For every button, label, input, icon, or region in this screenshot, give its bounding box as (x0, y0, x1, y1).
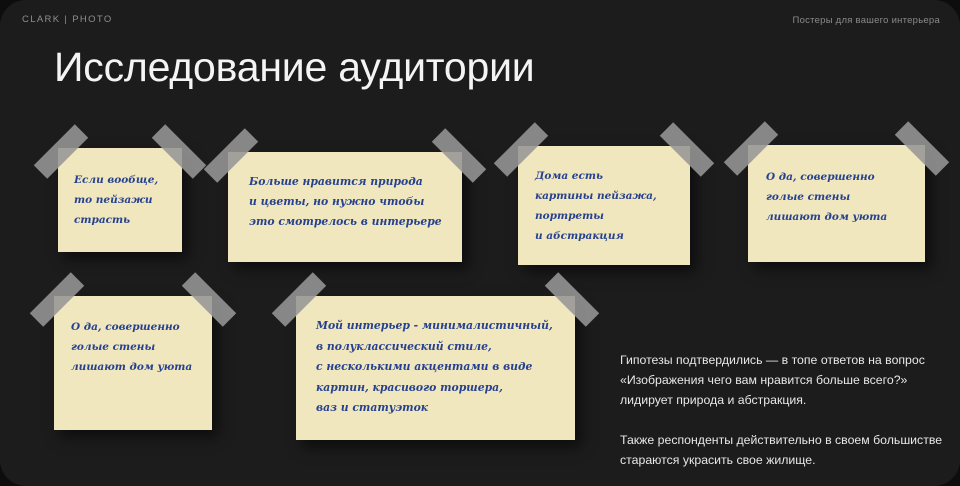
sticky-note: Если вообще, то пейзажи страсть (58, 148, 182, 252)
sticky-note: О да, совершенно голые стены лишают дом … (54, 296, 212, 430)
sticky-note-text: О да, совершенно голые стены лишают дом … (766, 167, 918, 227)
sticky-note: Мой интерьер - минималистичный, в полукл… (296, 296, 575, 440)
sticky-note-text: Дома есть картины пейзажа, портреты и аб… (535, 166, 685, 246)
sticky-note: Больше нравится природа и цветы, но нужн… (228, 152, 462, 262)
sticky-note-text: О да, совершенно голые стены лишают дом … (71, 317, 211, 377)
slide-canvas: CLARK | PHOTO Постеры для вашего интерье… (0, 0, 960, 486)
conclusion-paragraph-2: Также респонденты действительно в своем … (620, 430, 950, 470)
sticky-note-text: Больше нравится природа и цветы, но нужн… (249, 172, 459, 232)
sticky-note-text: Мой интерьер - минималистичный, в полукл… (316, 316, 566, 419)
sticky-note-text: Если вообще, то пейзажи страсть (74, 170, 176, 230)
page-title: Исследование аудитории (54, 44, 535, 90)
sticky-note: Дома есть картины пейзажа, портреты и аб… (518, 146, 690, 265)
header-tagline: Постеры для вашего интерьера (793, 15, 940, 26)
conclusion-block: Гипотезы подтвердились — в топе ответов … (620, 330, 950, 486)
brand-logo: CLARK | PHOTO (22, 14, 113, 25)
sticky-note: О да, совершенно голые стены лишают дом … (748, 145, 925, 262)
conclusion-paragraph-1: Гипотезы подтвердились — в топе ответов … (620, 353, 925, 407)
